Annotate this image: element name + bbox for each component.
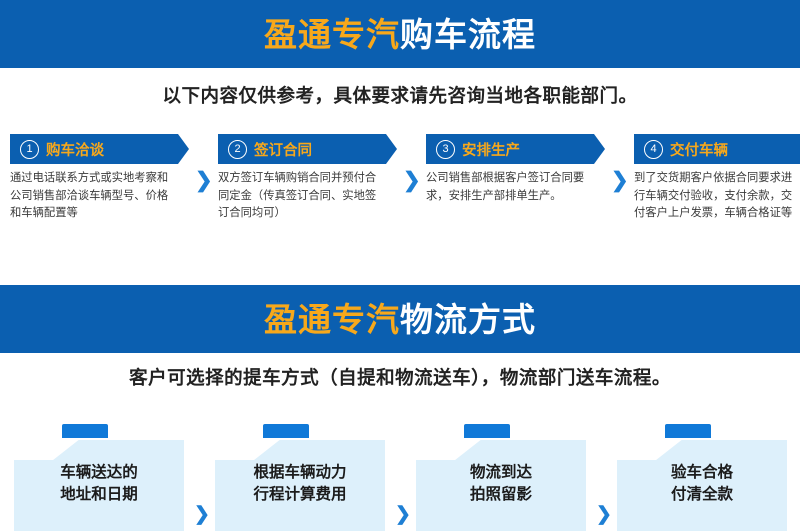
purchase-steps: 1 购车洽谈 通过电话联系方式或实地考察和公司销售部洽谈车辆型号、价格和车辆配置… [10, 134, 790, 244]
step-card-3: 3 安排生产 公司销售部根据客户签订合同要求，安排生产部排单生产。 [426, 134, 594, 205]
logistics-card-3-line1: 物流到达 [416, 462, 586, 484]
section-1-title-rest: 购车流程 [400, 16, 536, 53]
logistics-card-2-line1: 根据车辆动力 [215, 462, 385, 484]
logistics-card-4-line2: 付清全款 [617, 484, 787, 506]
logistics-card-2: 根据车辆动力 行程计算费用 [215, 410, 385, 531]
step-1-title: 购车洽谈 [46, 139, 104, 160]
logistics-arrow-icon-2: ❯ [395, 505, 411, 524]
logistics-arrow-icon-1: ❯ [194, 505, 210, 524]
logistics-card-4-label: 验车合格 付清全款 [617, 462, 787, 507]
logistics-card-3: 物流到达 拍照留影 [416, 410, 586, 531]
step-1-number-icon: 1 [20, 140, 39, 159]
truck-icon [464, 424, 510, 444]
step-2-header: 2 签订合同 [218, 134, 386, 164]
logistics-card-4: 验车合格 付清全款 [617, 410, 787, 531]
step-card-4: 4 交付车辆 到了交货期客户依据合同要求进行车辆交付验收，支付余款，交付客户上户… [634, 134, 800, 223]
step-3-body: 公司销售部根据客户签订合同要求，安排生产部排单生产。 [426, 170, 594, 205]
truck-icon [62, 424, 108, 444]
step-2-number-icon: 2 [228, 140, 247, 159]
step-2-body: 双方签订车辆购销合同并预付合同定金（传真签订合同、实地签订合同均可） [218, 170, 386, 223]
section-1-title: 盈通专汽购车流程 [264, 18, 536, 51]
step-1-header: 1 购车洽谈 [10, 134, 178, 164]
section-2-banner: 盈通专汽物流方式 [0, 285, 800, 353]
logistics-card-3-line2: 拍照留影 [416, 484, 586, 506]
step-card-1: 1 购车洽谈 通过电话联系方式或实地考察和公司销售部洽谈车辆型号、价格和车辆配置… [10, 134, 178, 223]
step-3-header: 3 安排生产 [426, 134, 594, 164]
logistics-card-1-label: 车辆送达的 地址和日期 [14, 462, 184, 507]
step-arrow-icon-3: ❯ [611, 170, 629, 191]
section-2-subtitle: 客户可选择的提车方式（自提和物流送车），物流部门送车流程。 [0, 364, 800, 390]
step-2-title: 签订合同 [254, 139, 312, 160]
step-4-body: 到了交货期客户依据合同要求进行车辆交付验收，支付余款，交付客户上户发票，车辆合格… [634, 170, 800, 223]
section-2-title-rest: 物流方式 [400, 301, 536, 338]
step-3-number-icon: 3 [436, 140, 455, 159]
logistics-card-2-label: 根据车辆动力 行程计算费用 [215, 462, 385, 507]
logistics-card-2-line2: 行程计算费用 [215, 484, 385, 506]
step-4-title: 交付车辆 [670, 139, 728, 160]
step-card-2: 2 签订合同 双方签订车辆购销合同并预付合同定金（传真签订合同、实地签订合同均可… [218, 134, 386, 223]
section-2-title: 盈通专汽物流方式 [264, 303, 536, 336]
step-arrow-icon-2: ❯ [403, 170, 421, 191]
step-4-header: 4 交付车辆 [634, 134, 800, 164]
logistics-card-1-line2: 地址和日期 [14, 484, 184, 506]
step-arrow-icon-1: ❯ [195, 170, 213, 191]
logistics-arrow-icon-3: ❯ [596, 505, 612, 524]
section-1-banner: 盈通专汽购车流程 [0, 0, 800, 68]
logistics-card-1: 车辆送达的 地址和日期 [14, 410, 184, 531]
logistics-card-3-label: 物流到达 拍照留影 [416, 462, 586, 507]
step-1-body: 通过电话联系方式或实地考察和公司销售部洽谈车辆型号、价格和车辆配置等 [10, 170, 178, 223]
section-1-subtitle: 以下内容仅供参考，具体要求请先咨询当地各职能部门。 [0, 82, 800, 108]
logistics-card-4-line1: 验车合格 [617, 462, 787, 484]
page-root: 盈通专汽购车流程 以下内容仅供参考，具体要求请先咨询当地各职能部门。 1 购车洽… [0, 0, 800, 531]
logistics-card-1-line1: 车辆送达的 [14, 462, 184, 484]
section-2-title-highlight: 盈通专汽 [264, 301, 400, 338]
logistics-steps: 车辆送达的 地址和日期 ❯ 根据车辆动力 行程计算费用 ❯ 物流到达 拍照留影 [14, 410, 786, 531]
truck-icon [263, 424, 309, 444]
step-3-title: 安排生产 [462, 139, 520, 160]
step-4-number-icon: 4 [644, 140, 663, 159]
section-1-title-highlight: 盈通专汽 [264, 16, 400, 53]
truck-icon [665, 424, 711, 444]
